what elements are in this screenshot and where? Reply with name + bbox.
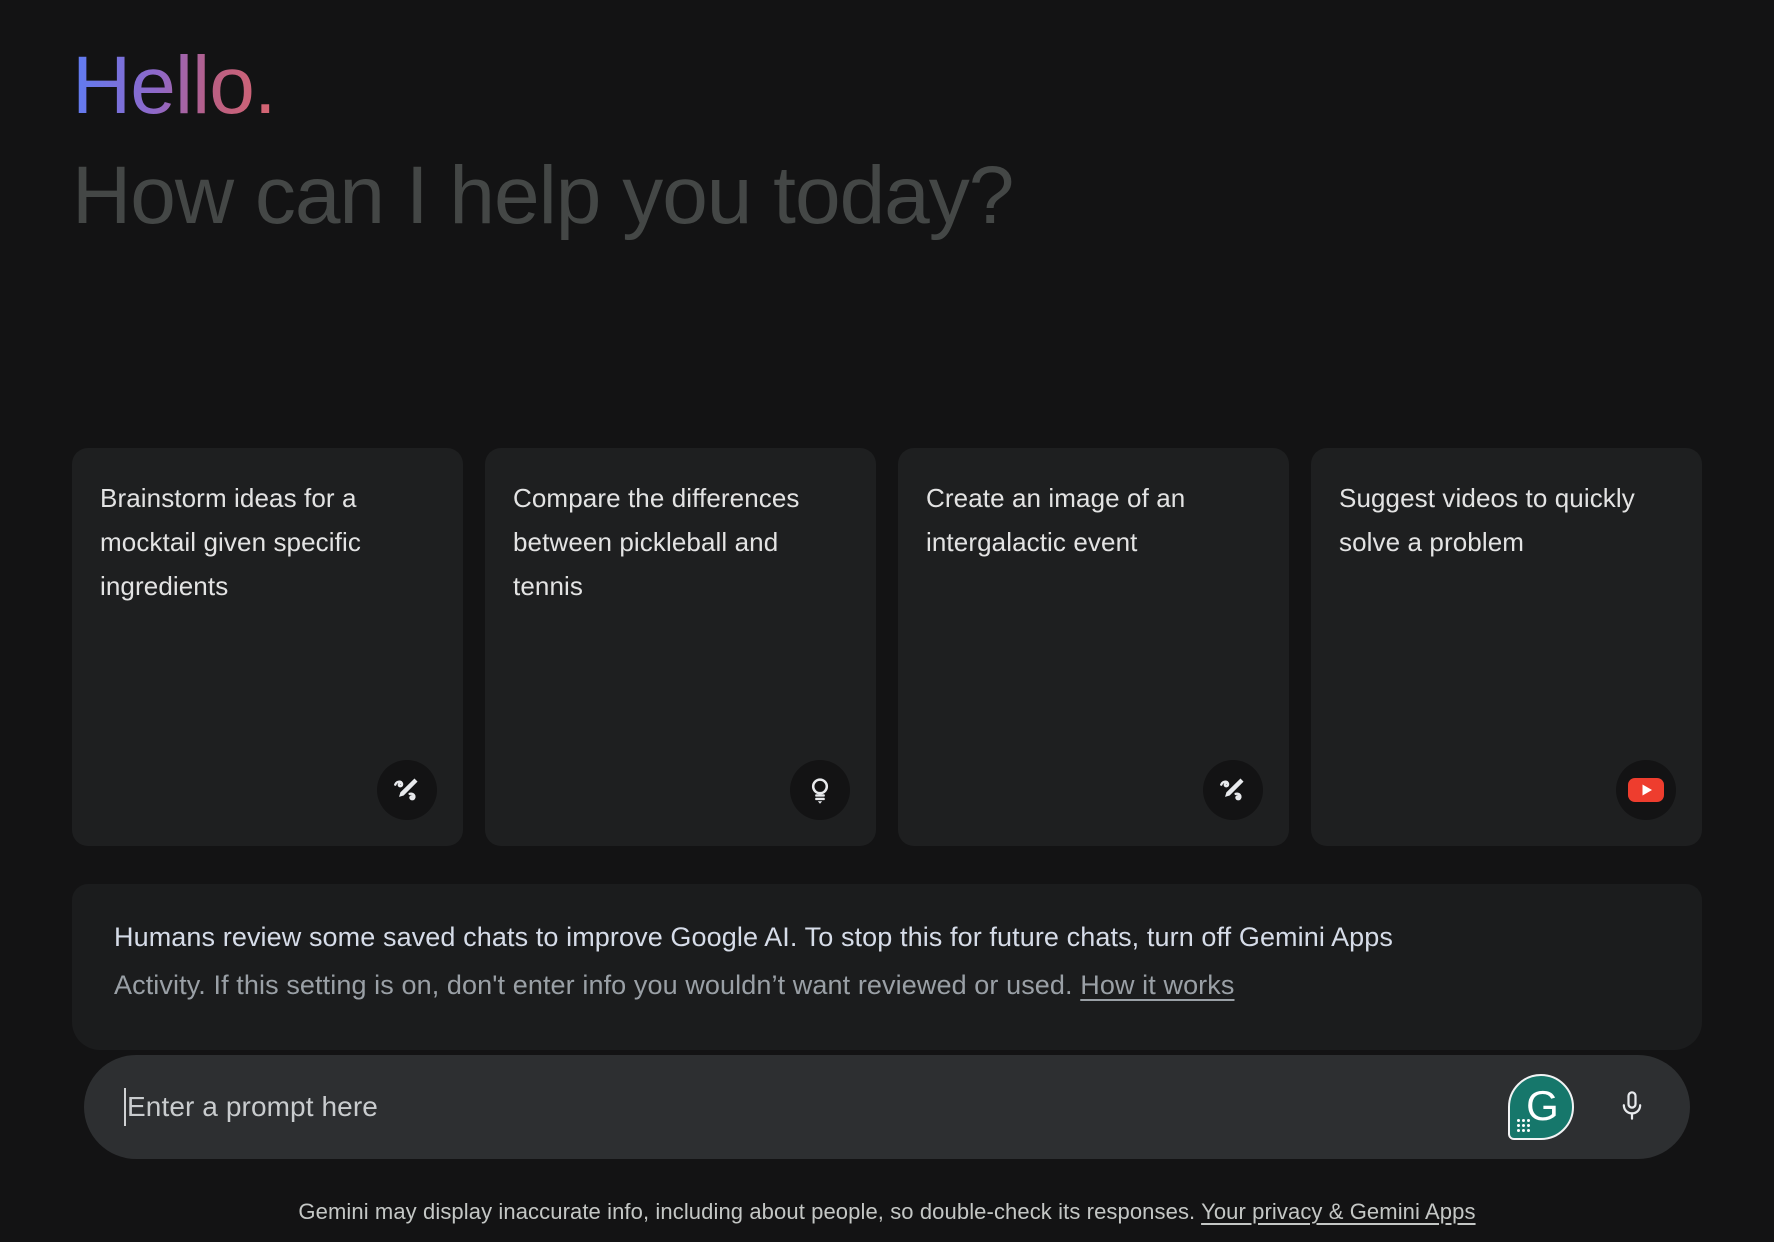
grammarly-letter: G — [1526, 1085, 1559, 1127]
privacy-banner: Humans review some saved chats to improv… — [72, 884, 1702, 1050]
suggestion-card-intergalactic-image[interactable]: Create an image of an intergalactic even… — [898, 448, 1289, 846]
prompt-actions: G — [1508, 1074, 1654, 1140]
suggestion-card-text: Suggest videos to quickly solve a proble… — [1339, 476, 1674, 564]
footer-text: Gemini may display inaccurate info, incl… — [298, 1199, 1201, 1224]
prompt-bar[interactable]: G — [84, 1055, 1690, 1159]
privacy-gemini-apps-link[interactable]: Your privacy & Gemini Apps — [1201, 1199, 1475, 1224]
prompt-input-wrap[interactable] — [124, 1055, 1508, 1159]
suggestion-card-text: Brainstorm ideas for a mocktail given sp… — [100, 476, 435, 608]
privacy-banner-line-2: Activity. If this setting is on, don't e… — [114, 964, 1660, 1006]
greeting-hello: Hello. — [72, 34, 276, 138]
suggestion-card-mocktail[interactable]: Brainstorm ideas for a mocktail given sp… — [72, 448, 463, 846]
youtube-icon — [1616, 760, 1676, 820]
privacy-banner-line-2-text: Activity. If this setting is on, don't e… — [114, 970, 1080, 1000]
how-it-works-link[interactable]: How it works — [1080, 970, 1234, 1000]
privacy-banner-line-1: Humans review some saved chats to improv… — [114, 916, 1660, 958]
suggestion-cards: Brainstorm ideas for a mocktail given sp… — [72, 448, 1702, 846]
footer-disclaimer: Gemini may display inaccurate info, incl… — [0, 1196, 1774, 1228]
suggestion-card-text: Create an image of an intergalactic even… — [926, 476, 1261, 564]
suggestion-card-pickleball[interactable]: Compare the differences between pickleba… — [485, 448, 876, 846]
draft-pencil-icon — [377, 760, 437, 820]
grammarly-badge-icon[interactable]: G — [1508, 1074, 1574, 1140]
greeting-block: Hello. How can I help you today? — [72, 34, 1572, 248]
suggestion-card-videos[interactable]: Suggest videos to quickly solve a proble… — [1311, 448, 1702, 846]
suggestion-card-text: Compare the differences between pickleba… — [513, 476, 848, 608]
text-caret — [124, 1088, 126, 1126]
drag-handle-dots-icon[interactable] — [1517, 1119, 1530, 1132]
microphone-icon[interactable] — [1610, 1082, 1654, 1132]
prompt-input[interactable] — [127, 1055, 1508, 1159]
greeting-subtitle: How can I help you today? — [72, 144, 1572, 248]
gemini-home-screen: Hello. How can I help you today? Brainst… — [0, 0, 1774, 1242]
lightbulb-icon — [790, 760, 850, 820]
draft-pencil-icon — [1203, 760, 1263, 820]
